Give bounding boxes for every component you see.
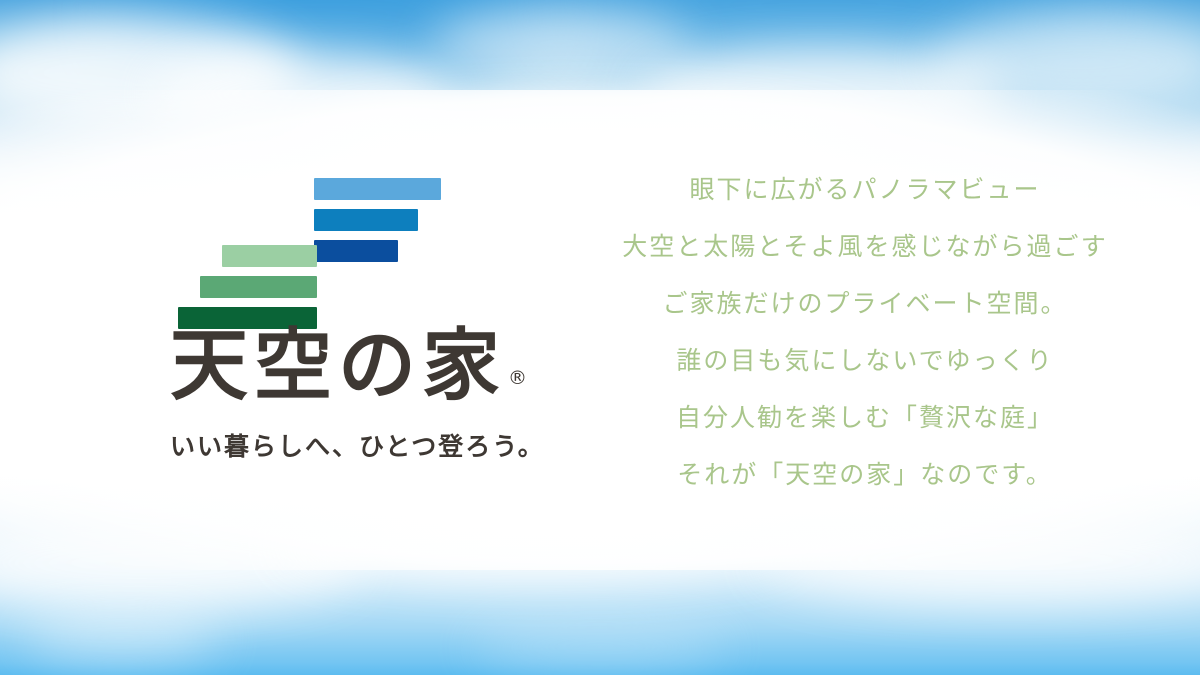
copy-line-5: 自分人勧を楽しむ「贅沢な庭」 xyxy=(620,390,1110,447)
brand-logo-block: 天空の家® いい暮らしへ、ひとつ登ろう。 xyxy=(170,160,570,463)
slide-content: 天空の家® いい暮らしへ、ひとつ登ろう。 眼下に広がるパノラマビュー大空と太陽と… xyxy=(0,0,1200,675)
copy-line-2: 大空と太陽とそよ風を感じながら過ごす xyxy=(620,219,1110,276)
staircase-bars-icon xyxy=(178,160,508,315)
logo-bar-blue-mid xyxy=(314,209,418,231)
copy-line-4: 誰の目も気にしないでゆっくり xyxy=(620,333,1110,390)
copy-line-3: ご家族だけのプライベート空間。 xyxy=(620,276,1110,333)
brand-wordmark: 天空の家® xyxy=(170,321,570,411)
slide-canvas: 天空の家® いい暮らしへ、ひとつ登ろう。 眼下に広がるパノラマビュー大空と太陽と… xyxy=(0,0,1200,675)
brand-tagline: いい暮らしへ、ひとつ登ろう。 xyxy=(170,427,570,463)
marketing-copy-block: 眼下に広がるパノラマビュー大空と太陽とそよ風を感じながら過ごすご家族だけのプライ… xyxy=(620,162,1110,504)
copy-line-6: それが「天空の家」なのです。 xyxy=(620,447,1110,504)
copy-line-1: 眼下に広がるパノラマビュー xyxy=(620,162,1110,219)
logo-bar-blue-dark xyxy=(314,240,398,262)
brand-wordmark-text: 天空の家 xyxy=(170,321,506,411)
logo-bar-green-mid xyxy=(200,276,317,298)
registered-trademark-icon: ® xyxy=(508,367,527,389)
logo-bar-blue-light xyxy=(314,178,441,200)
logo-bar-green-light xyxy=(222,245,317,267)
